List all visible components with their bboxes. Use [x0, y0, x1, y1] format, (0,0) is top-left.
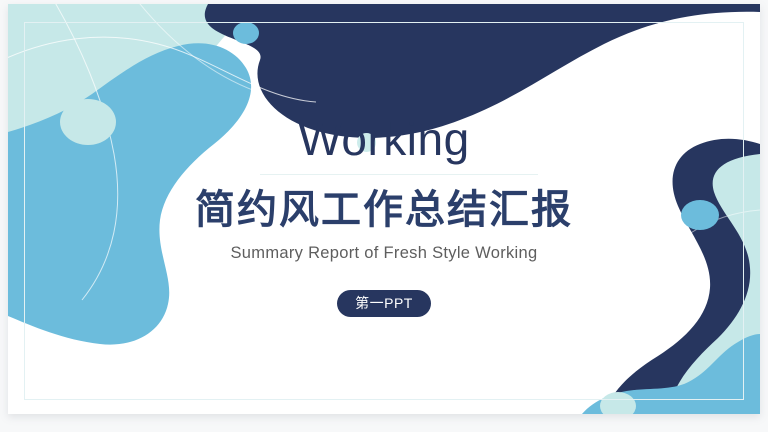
page-subtitle: Summary Report of Fresh Style Working [8, 244, 760, 263]
title-divider [260, 174, 538, 175]
page-title-chinese: 简约风工作总结汇报 [8, 186, 760, 234]
slide-content: Working 简约风工作总结汇报 Summary Report of Fres… [8, 4, 760, 414]
slide-root: Working 简约风工作总结汇报 Summary Report of Fres… [0, 0, 768, 432]
brand-badge[interactable]: 第一PPT [337, 290, 431, 317]
badge-container: 第一PPT [8, 290, 760, 317]
slide-canvas: Working 简约风工作总结汇报 Summary Report of Fres… [8, 4, 760, 414]
page-title-english: Working [8, 114, 760, 165]
